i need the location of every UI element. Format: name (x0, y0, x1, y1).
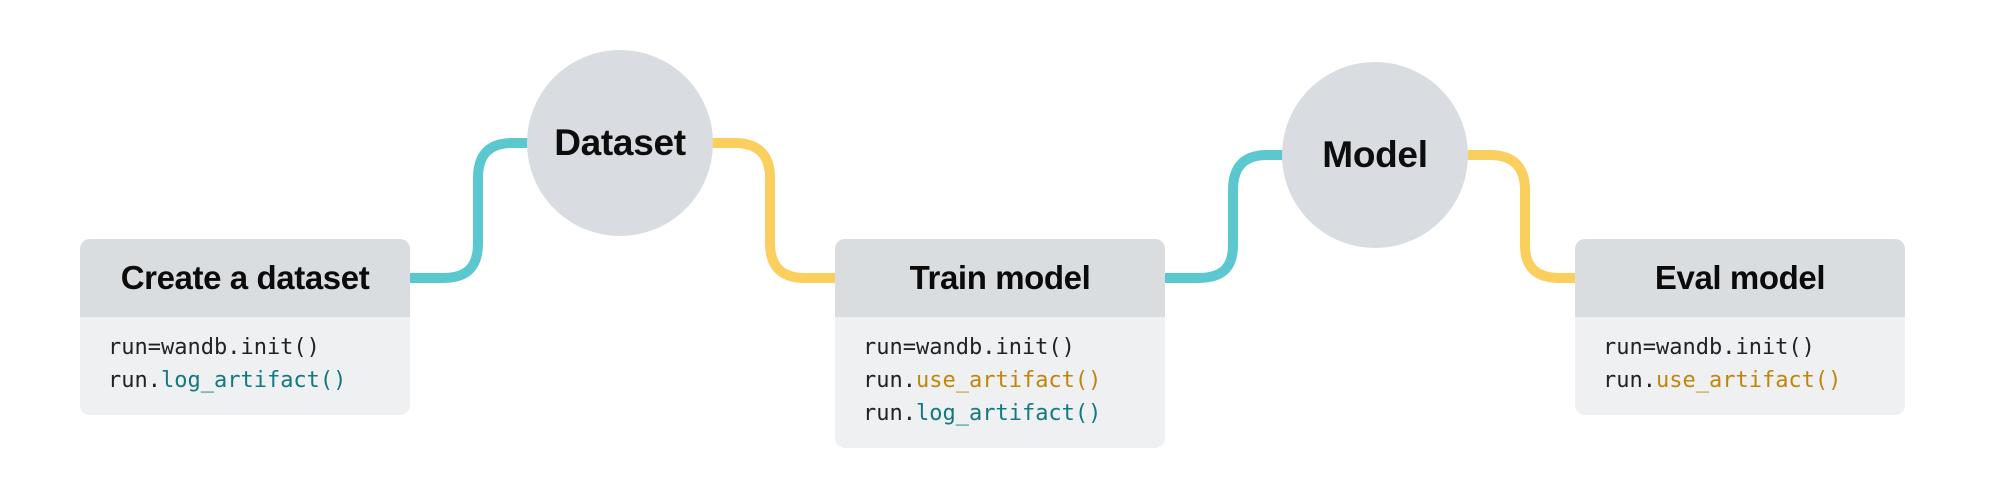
step-title-create-a-dataset: Create a dataset (121, 259, 370, 297)
step-body-create-a-dataset: run=wandb.init() run.log_artifact() (80, 317, 410, 415)
step-card-create-a-dataset[interactable]: Create a dataset run=wandb.init() run.lo… (80, 239, 410, 415)
code-line: run.log_artifact() (863, 397, 1165, 430)
step-title-eval-model: Eval model (1655, 259, 1825, 297)
code-token-use-artifact: use_artifact() (1656, 368, 1841, 393)
code-line: run.use_artifact() (863, 364, 1165, 397)
step-body-eval-model: run=wandb.init() run.use_artifact() (1575, 317, 1905, 415)
code-token-plain: run. (108, 368, 161, 393)
code-line: run=wandb.init() (863, 331, 1165, 364)
code-token-plain: run. (863, 401, 916, 426)
step-header-train-model: Train model (835, 239, 1165, 317)
code-token-use-artifact: use_artifact() (916, 368, 1101, 393)
artifact-label-model: Model (1322, 134, 1427, 176)
artifact-node-model[interactable]: Model (1282, 62, 1468, 248)
step-header-create-a-dataset: Create a dataset (80, 239, 410, 317)
step-card-train-model[interactable]: Train model run=wandb.init() run.use_art… (835, 239, 1165, 448)
artifact-label-dataset: Dataset (554, 122, 686, 164)
code-token-plain: run. (1603, 368, 1656, 393)
code-line: run=wandb.init() (1603, 331, 1905, 364)
code-line: run.log_artifact() (108, 364, 410, 397)
connector-train-to-model (1165, 155, 1285, 278)
connector-model-to-eval (1465, 155, 1578, 278)
step-header-eval-model: Eval model (1575, 239, 1905, 317)
step-body-train-model: run=wandb.init() run.use_artifact() run.… (835, 317, 1165, 448)
code-token-log-artifact: log_artifact() (916, 401, 1101, 426)
code-token-plain: run=wandb.init() (1603, 335, 1815, 360)
code-line: run.use_artifact() (1603, 364, 1905, 397)
code-line: run=wandb.init() (108, 331, 410, 364)
code-token-log-artifact: log_artifact() (161, 368, 346, 393)
step-title-train-model: Train model (910, 259, 1091, 297)
connector-create-to-dataset (410, 143, 530, 278)
code-token-plain: run=wandb.init() (108, 335, 320, 360)
code-token-plain: run=wandb.init() (863, 335, 1075, 360)
step-card-eval-model[interactable]: Eval model run=wandb.init() run.use_arti… (1575, 239, 1905, 415)
artifact-node-dataset[interactable]: Dataset (527, 50, 713, 236)
code-token-plain: run. (863, 368, 916, 393)
connector-dataset-to-train (710, 143, 838, 278)
diagram-canvas: Dataset Model Create a dataset run=wandb… (0, 0, 1991, 503)
